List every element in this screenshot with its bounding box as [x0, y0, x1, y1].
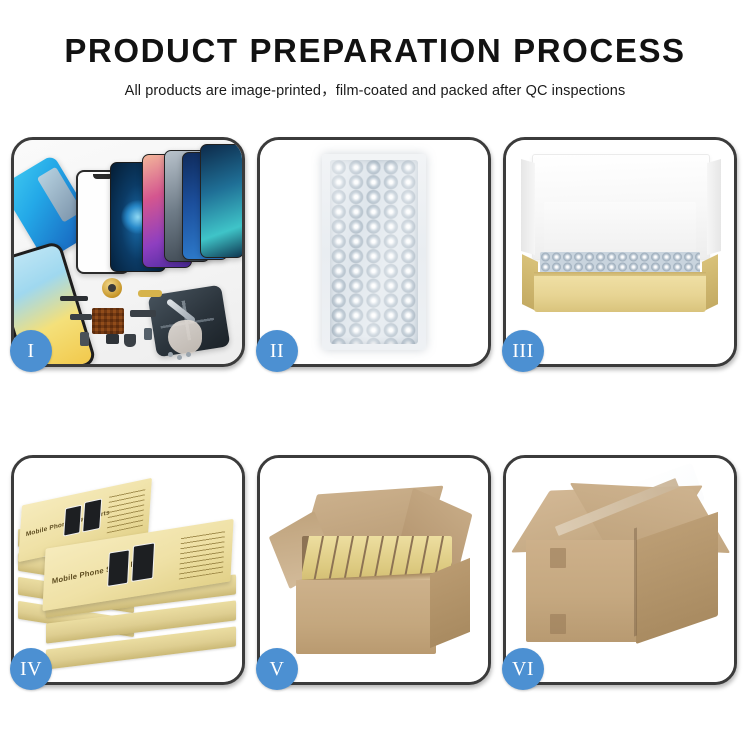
- hand-icon: [168, 320, 202, 354]
- speaker-icon: [124, 334, 136, 347]
- step-3-image: [506, 140, 734, 364]
- box-phone-image-icon: [107, 549, 130, 587]
- step-4-image: Mobile Phone Spare Parts Mobile Phone Sp…: [14, 458, 242, 682]
- step-badge-3: III: [502, 330, 544, 372]
- box-phone-image-icon: [131, 542, 155, 582]
- page-subtitle: All products are image-printed，film-coat…: [0, 79, 750, 100]
- step-5-image: [260, 458, 488, 682]
- sealed-carton: [524, 488, 720, 656]
- page-title: PRODUCT PREPARATION PROCESS: [0, 34, 750, 69]
- step-panel-2[interactable]: II: [257, 137, 491, 367]
- chip-icon: [106, 334, 119, 344]
- box-spec-text-block: [179, 528, 225, 579]
- foam-insert-icon: [544, 202, 696, 256]
- infographic-page: PRODUCT PREPARATION PROCESS All products…: [0, 0, 750, 750]
- box-phone-image-icon: [82, 498, 102, 532]
- carton-corner-edge: [634, 527, 637, 636]
- vibration-coil-icon: [102, 278, 122, 298]
- step-panel-3[interactable]: III: [503, 137, 737, 367]
- step-panel-1[interactable]: I: [11, 137, 245, 367]
- box-front-face: [534, 276, 706, 312]
- step-badge-4: IV: [10, 648, 52, 690]
- step-1-image: [14, 140, 242, 364]
- flex-cable-icon: [60, 296, 88, 301]
- step-badge-6: VI: [502, 648, 544, 690]
- bubble-wrapped-product: [322, 154, 426, 350]
- carton-front-face: [526, 540, 640, 642]
- open-carton: [278, 484, 472, 660]
- box-phone-image-icon: [63, 505, 82, 537]
- step-badge-2: II: [256, 330, 298, 372]
- connector-icon: [80, 332, 89, 346]
- gold-flex-cable-icon: [138, 290, 162, 297]
- step-6-image: [506, 458, 734, 682]
- chip-array-icon: [92, 308, 124, 334]
- process-steps-grid: I II III: [11, 137, 738, 689]
- carton-seam-lower: [550, 614, 566, 634]
- carton-seam-upper: [550, 548, 566, 568]
- step-panel-6[interactable]: VI: [503, 455, 737, 685]
- step-badge-1: I: [10, 330, 52, 372]
- carton-front-face: [296, 580, 436, 654]
- plastic-glare: [330, 160, 418, 344]
- battery-connector-icon: [144, 328, 152, 340]
- stacked-boxes-group: Mobile Phone Spare Parts Mobile Phone Sp…: [18, 474, 240, 672]
- header: PRODUCT PREPARATION PROCESS All products…: [0, 0, 750, 100]
- step-badge-5: V: [256, 648, 298, 690]
- flex-cable-small-icon: [70, 314, 92, 320]
- carton-side-face: [430, 558, 470, 648]
- step-panel-4[interactable]: Mobile Phone Spare Parts Mobile Phone Sp…: [11, 455, 245, 685]
- flex-cable-long-icon: [130, 310, 156, 317]
- screws-group-icon: [168, 352, 194, 362]
- spare-parts-group: [60, 282, 200, 364]
- box-spec-text-block: [107, 487, 146, 533]
- step-panel-5[interactable]: V: [257, 455, 491, 685]
- teal-phone-icon: [200, 144, 242, 258]
- step-2-image: [260, 140, 488, 364]
